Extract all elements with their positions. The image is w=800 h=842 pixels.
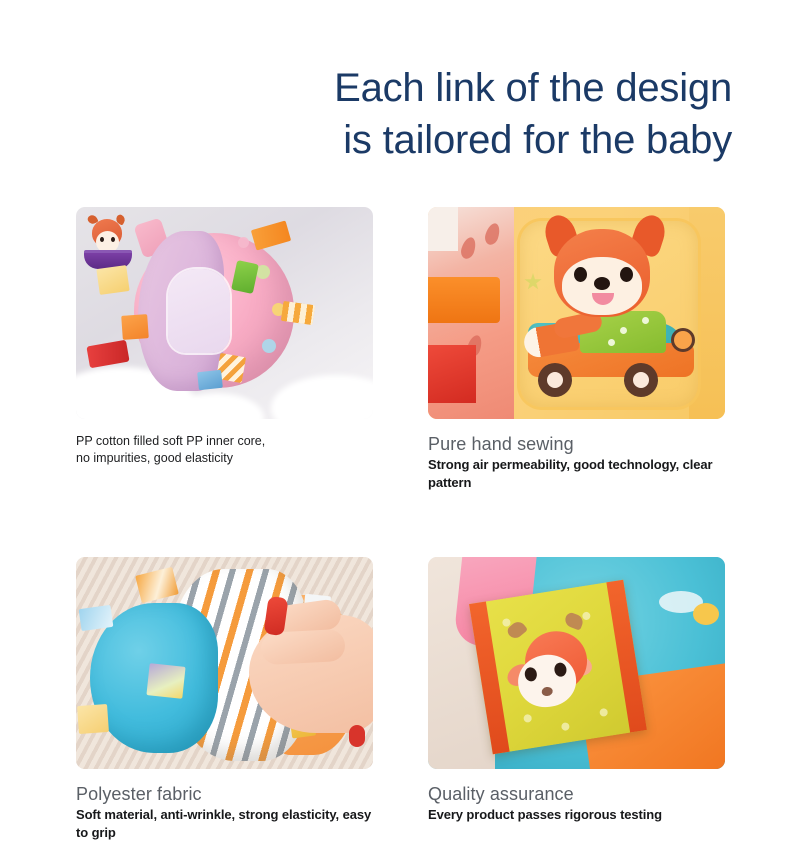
headline-line-2: is tailored for the baby [60,114,732,166]
caption-subtitle: Every product passes rigorous testing [428,806,725,824]
ribbon-tag [77,704,109,734]
label-dot [599,708,608,717]
ribbon-tag [79,605,114,631]
fox-eye [620,267,633,282]
ribbon-tag [197,370,223,390]
feature-caption: Pure hand sewing Strong air permeability… [428,419,725,492]
blurred-background [428,207,458,251]
car-wheel [624,363,658,397]
pink-plush-rattle-ball-photo [76,207,373,419]
deer-label-tag [469,580,647,755]
caption-line-2: no impurities, good elasticity [76,450,373,467]
deer-eye [100,237,104,242]
caption-subtitle: Strong air permeability, good technology… [428,456,725,492]
caption-subtitle: Soft material, anti-wrinkle, strong elas… [76,806,373,842]
ribbon-tag [121,314,149,340]
page-headline: Each link of the design is tailored for … [60,62,732,166]
hand-squeezing-ball-photo [76,557,373,769]
feature-row-bottom: Polyester fabric Soft material, anti-wri… [76,557,725,842]
feature-caption: Quality assurance Every product passes r… [428,769,725,824]
feature-caption: Polyester fabric Soft material, anti-wri… [76,769,373,842]
caption-line-1: PP cotton filled soft PP inner core, [76,433,373,450]
polka-dot [262,339,276,353]
feature-card-quality-assurance: Quality assurance Every product passes r… [428,557,725,842]
caption-text: PP cotton filled soft PP inner core, no … [76,433,373,467]
shirt-dot [608,339,615,346]
feature-caption: PP cotton filled soft PP inner core, no … [76,419,373,467]
feature-card-polyester-fabric: Polyester fabric Soft material, anti-wri… [76,557,373,842]
deer-applique [168,269,230,353]
shirt-dot [620,327,627,334]
feature-grid: PP cotton filled soft PP inner core, no … [76,207,725,842]
feature-card-inner-core: PP cotton filled soft PP inner core, no … [76,207,373,492]
ribbon-tag [86,340,129,369]
flower-print [693,603,719,625]
ribbon-tag [146,663,185,699]
orange-ribbon [428,277,500,323]
fox-nose [594,277,610,290]
car-wheel [538,363,572,397]
label-dot [582,611,591,620]
deer-label-tag-photo [428,557,725,769]
feature-card-hand-sewing: Pure hand sewing Strong air permeability… [428,207,725,492]
caption-title: Pure hand sewing [428,433,725,456]
ribbon-tag [281,301,315,325]
headline-line-1: Each link of the design [60,62,732,114]
ribbon-tag [96,265,129,295]
label-dot [561,722,570,731]
caption-title: Quality assurance [428,783,725,806]
car-headlight [674,331,692,349]
fox-eye [574,267,587,282]
caption-title: Polyester fabric [76,783,373,806]
red-ribbon [428,345,476,403]
ribbon-tag [251,220,291,250]
polka-dot [238,237,249,248]
shirt-dot [642,317,649,324]
cloud-shape [271,375,373,419]
fox-car-embroidery-photo [428,207,725,419]
painted-nail [349,725,365,747]
deer-eye [111,237,115,242]
label-dot [523,714,532,723]
feature-row-top: PP cotton filled soft PP inner core, no … [76,207,725,492]
